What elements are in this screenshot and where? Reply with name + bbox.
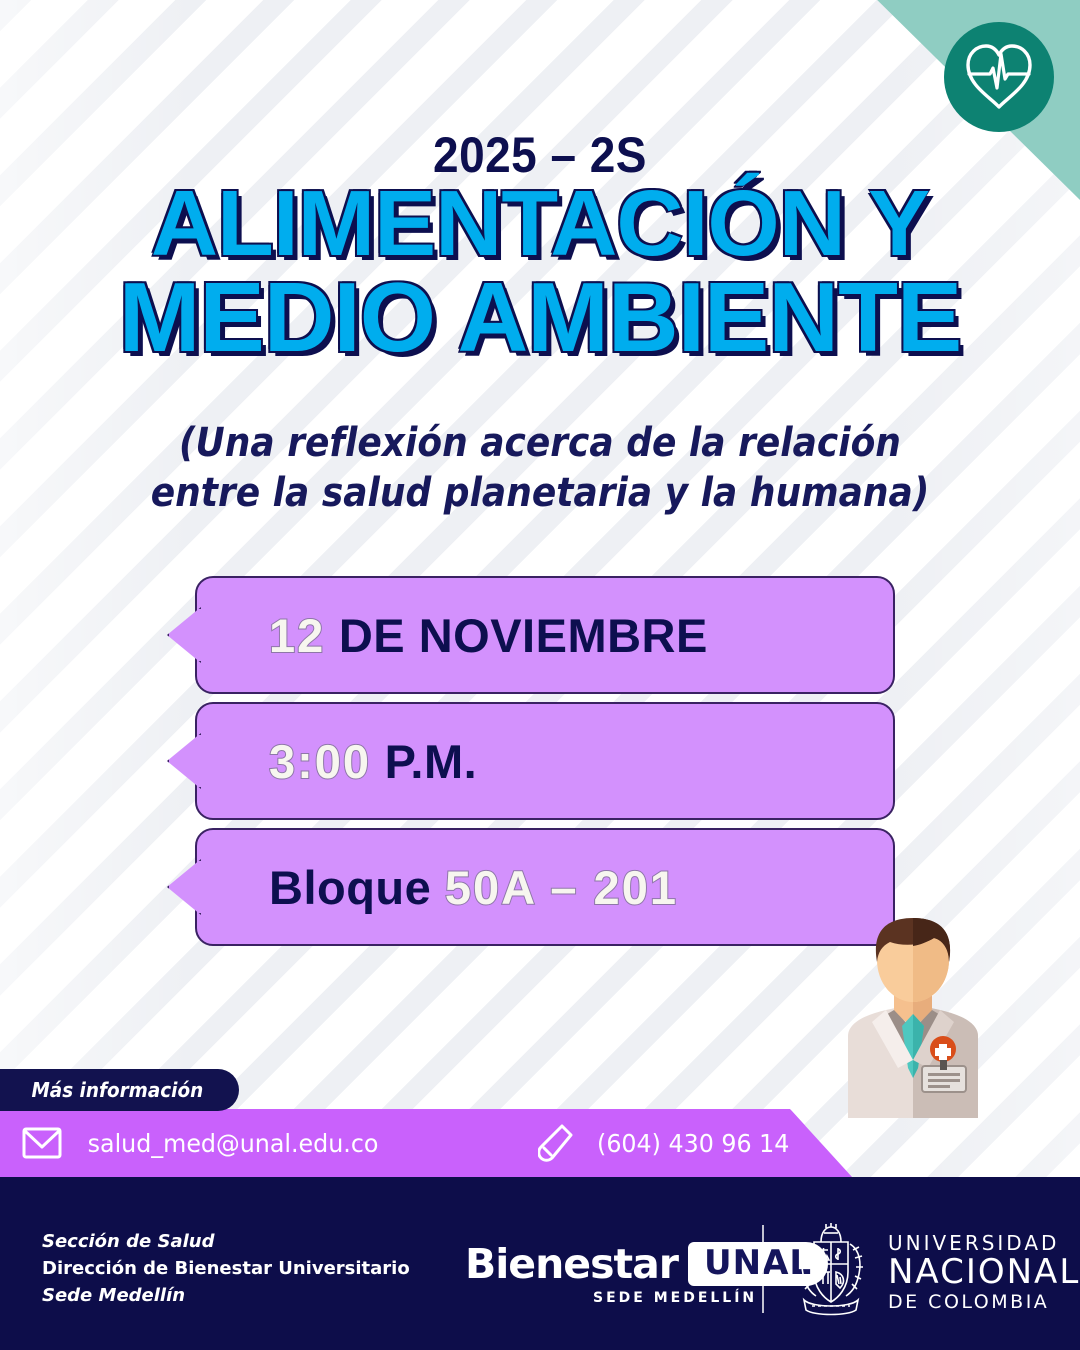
title-line-2: MEDIO AMBIENTE <box>0 269 1080 365</box>
contact-email-text: salud_med@unal.edu.co <box>88 1129 379 1158</box>
phone-icon <box>538 1124 574 1162</box>
time-rest: P.M. <box>371 735 477 788</box>
contact-email[interactable]: salud_med@unal.edu.co <box>22 1127 386 1159</box>
page-title: ALIMENTACIÓN Y MEDIO AMBIENTE <box>0 178 1080 365</box>
bienestar-unal-logo: Bienestar UNAL SEDE MEDELLÍN <box>465 1240 828 1306</box>
date-highlight: 12 <box>269 609 325 662</box>
bienestar-wordmark: Bienestar <box>465 1240 678 1288</box>
doctor-illustration <box>838 918 988 1118</box>
place-highlight: 50A – 201 <box>445 861 678 914</box>
footer-line-2: Dirección de Bienestar Universitario <box>42 1255 410 1282</box>
bienestar-logo-row: Bienestar UNAL <box>465 1240 828 1288</box>
contact-phone-text: (604) 430 96 14 <box>597 1129 789 1158</box>
info-box-time-text: 3:00 P.M. <box>197 734 477 789</box>
universidad-nacional-logo: UNIVERSIDAD NACIONAL DE COLOMBIA <box>790 1222 1080 1322</box>
footer-line-3: Sede Medellín <box>42 1282 410 1309</box>
footer-line-1: Sección de Salud <box>42 1228 410 1255</box>
unal-word-decolombia: DE COLOMBIA <box>888 1291 1080 1313</box>
contact-items: salud_med@unal.edu.co (604) 430 96 14 <box>0 1109 852 1177</box>
time-highlight: 3:00 <box>269 735 371 788</box>
info-box-list: 12 DE NOVIEMBRE 3:00 P.M. Bloque 50A – 2… <box>195 576 895 954</box>
heart-pulse-icon <box>960 41 1038 113</box>
info-box-date-text: 12 DE NOVIEMBRE <box>197 608 708 663</box>
contact-phone[interactable]: (604) 430 96 14 <box>538 1124 794 1162</box>
mas-informacion-tag: Más información <box>0 1069 239 1111</box>
unal-crest-icon <box>790 1222 872 1322</box>
footer-org-text: Sección de Salud Dirección de Bienestar … <box>42 1228 410 1309</box>
info-box-place: Bloque 50A – 201 <box>195 828 895 946</box>
date-rest: DE NOVIEMBRE <box>325 609 708 662</box>
subtitle: (Una reflexión acerca de la relación ent… <box>135 418 945 518</box>
poster-canvas: 2025 – 2S ALIMENTACIÓN Y MEDIO AMBIENTE … <box>0 0 1080 1350</box>
unal-wordmark: UNIVERSIDAD NACIONAL DE COLOMBIA <box>888 1231 1080 1313</box>
bienestar-sede-label: SEDE MEDELLÍN <box>593 1290 757 1306</box>
heart-pulse-badge <box>944 22 1054 132</box>
envelope-icon <box>22 1127 62 1159</box>
info-box-date: 12 DE NOVIEMBRE <box>195 576 895 694</box>
title-line-1: ALIMENTACIÓN Y <box>0 178 1080 269</box>
footer-divider <box>762 1225 764 1313</box>
unal-word-nacional: NACIONAL <box>888 1255 1080 1291</box>
mas-informacion-label: Más información <box>31 1078 203 1102</box>
info-box-place-text: Bloque 50A – 201 <box>197 860 678 915</box>
place-prefix: Bloque <box>269 861 445 914</box>
info-box-time: 3:00 P.M. <box>195 702 895 820</box>
